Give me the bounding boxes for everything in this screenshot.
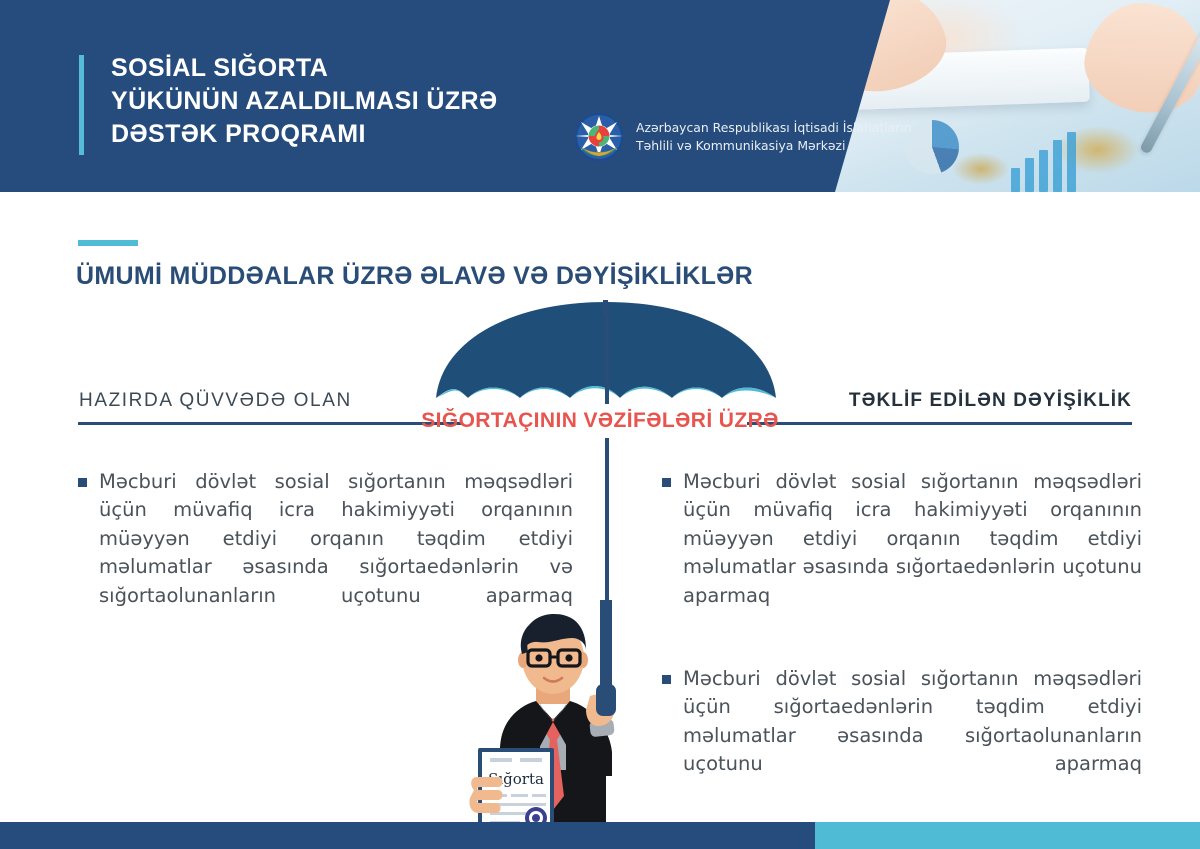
footer-bar-navy xyxy=(0,822,815,849)
organization-name: Azərbaycan Respublikası İqtisadi İslahat… xyxy=(636,119,912,154)
column-proposed: Məcburi dövlət sosial sığortanın məqsədl… xyxy=(662,468,1142,833)
page-title-line-2: YÜKÜNÜN AZALDILMASI ÜZRƏ xyxy=(111,85,631,118)
section-title: ÜMUMİ MÜDDƏALAR ÜZRƏ ƏLAVƏ VƏ DƏYİŞİKLİK… xyxy=(76,262,753,291)
list-item-text: Məcburi dövlət sosial sığortanın məqsədl… xyxy=(683,468,1142,639)
bar-shape-1 xyxy=(1011,168,1020,192)
bar-shape-4 xyxy=(1053,140,1062,192)
pie-chart-shape xyxy=(905,120,959,174)
bar-shape-5 xyxy=(1067,132,1076,192)
page-title-line-1: SOSİAL SIĞORTA xyxy=(111,52,631,85)
bar-shape-3 xyxy=(1039,150,1048,192)
header-accent-bar xyxy=(79,55,84,155)
organization-logo: Azərbaycan Respublikası İqtisadi İslahat… xyxy=(574,112,912,162)
page-title-line-3: DƏSTƏK PROQRAMI xyxy=(111,118,631,151)
center-category-label: SIĞORTAÇININ VƏZİFƏLƏRİ ÜZRƏ xyxy=(0,409,1200,433)
square-bullet-icon xyxy=(78,478,87,487)
bar-shape-2 xyxy=(1025,158,1034,192)
list-item-text: Məcburi dövlət sosial sığortanın məqsədl… xyxy=(683,665,1142,807)
section-title-underline xyxy=(78,240,138,246)
page-title: SOSİAL SIĞORTA YÜKÜNÜN AZALDILMASI ÜZRƏ … xyxy=(111,52,631,151)
azerbaijan-state-emblem-icon xyxy=(574,112,624,162)
infographic-page: SOSİAL SIĞORTA YÜKÜNÜN AZALDILMASI ÜZRƏ … xyxy=(0,0,1200,849)
list-item: Məcburi dövlət sosial sığortanın məqsədl… xyxy=(662,665,1142,807)
footer-bar-teal xyxy=(815,822,1200,849)
hand-right-shape xyxy=(1076,0,1200,123)
header-banner: SOSİAL SIĞORTA YÜKÜNÜN AZALDILMASI ÜZRƏ … xyxy=(0,0,1200,192)
businessman-illustration: Sığorta xyxy=(440,600,670,825)
list-item: Məcburi dövlət sosial sığortanın məqsədl… xyxy=(662,468,1142,639)
footer-bar xyxy=(0,822,1200,849)
header-photo xyxy=(835,0,1200,192)
organization-name-line-2: Təhlili və Kommunikasiya Mərkəzi xyxy=(636,137,912,155)
square-bullet-icon xyxy=(662,478,671,487)
organization-name-line-1: Azərbaycan Respublikası İqtisadi İslahat… xyxy=(636,119,912,137)
